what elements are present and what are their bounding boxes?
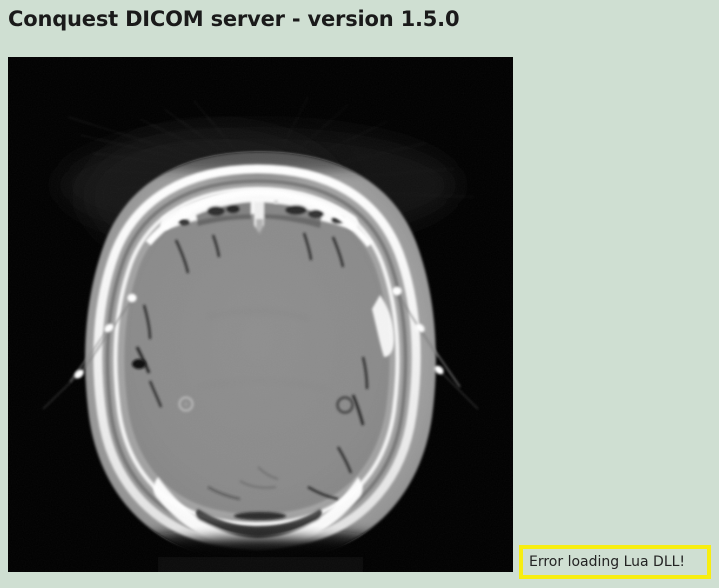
- error-banner: Error loading Lua DLL!: [519, 545, 711, 579]
- page-title: Conquest DICOM server - version 1.5.0: [8, 7, 459, 31]
- dicom-image-viewport[interactable]: [8, 57, 513, 572]
- ct-head-image: [8, 57, 513, 572]
- error-message-text: Error loading Lua DLL!: [529, 554, 685, 570]
